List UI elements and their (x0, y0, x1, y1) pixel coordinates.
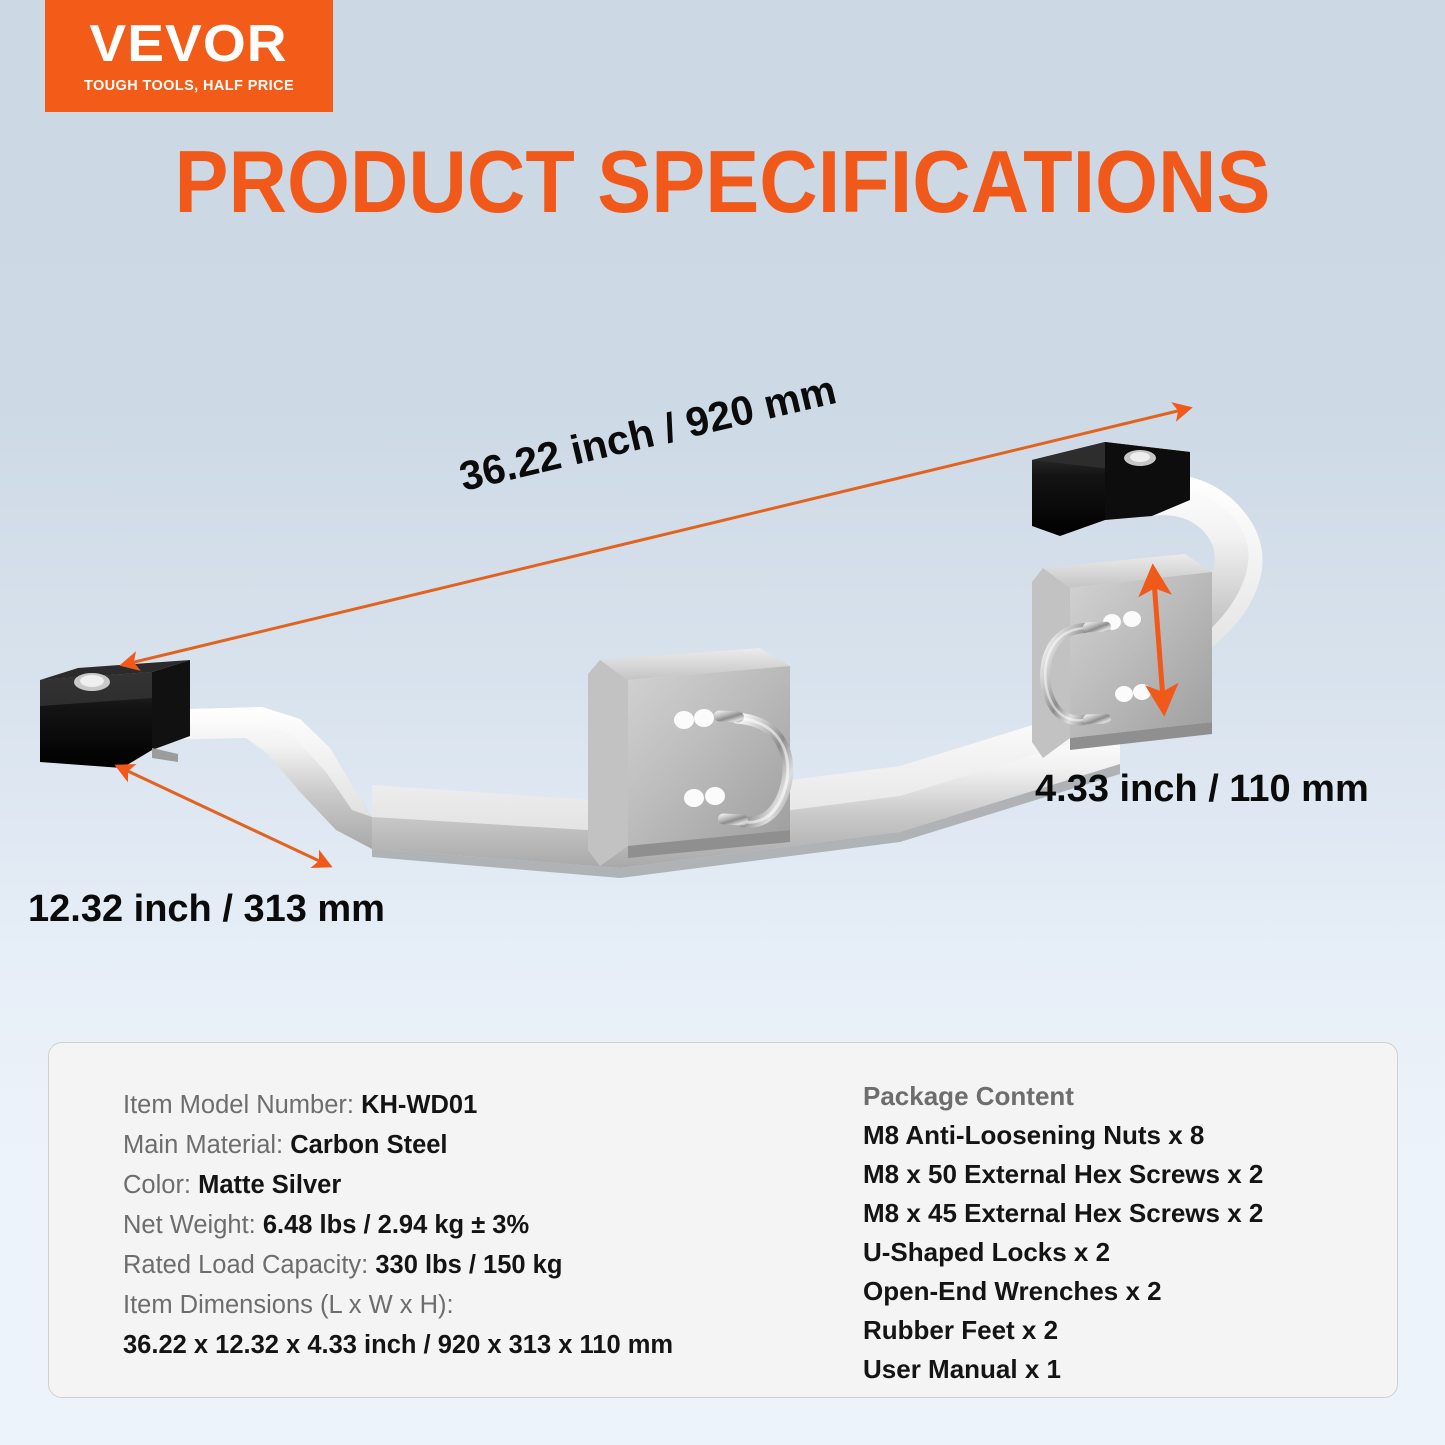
mounting-bracket-right (1032, 554, 1212, 758)
spec-row-load: Rated Load Capacity: 330 lbs / 150 kg (123, 1245, 809, 1285)
package-item: U-Shaped Locks x 2 (863, 1233, 1397, 1272)
spec-label-color: Color: (123, 1171, 198, 1199)
spec-value-load: 330 lbs / 150 kg (375, 1251, 562, 1279)
package-item: User Manual x 1 (863, 1350, 1397, 1389)
dimension-label-width: 12.32 inch / 313 mm (28, 888, 385, 931)
specifications-card: Item Model Number: KH-WD01 Main Material… (48, 1042, 1398, 1398)
mounting-bracket-center (582, 648, 790, 866)
spec-label-load: Rated Load Capacity: (123, 1251, 375, 1279)
spec-label-dimensions: Item Dimensions (L x W x H): (123, 1285, 809, 1325)
package-item: Open-End Wrenches x 2 (863, 1272, 1397, 1311)
package-item: M8 x 45 External Hex Screws x 2 (863, 1194, 1397, 1233)
brand-logo: VEVOR TOUGH TOOLS, HALF PRICE (45, 0, 333, 112)
dimension-label-height: 4.33 inch / 110 mm (1035, 768, 1369, 811)
page-title: PRODUCT SPECIFICATIONS (58, 138, 1387, 226)
brand-tagline: TOUGH TOOLS, HALF PRICE (84, 79, 294, 94)
spec-row-color: Color: Matte Silver (123, 1165, 809, 1205)
package-content-list: Package Content M8 Anti-Loosening Nuts x… (809, 1043, 1397, 1397)
spec-label-material: Main Material: (123, 1131, 290, 1159)
rubber-foot-right (1032, 442, 1190, 536)
spec-table: Item Model Number: KH-WD01 Main Material… (49, 1043, 809, 1397)
package-content-title: Package Content (863, 1077, 1397, 1116)
spec-row-weight: Net Weight: 6.48 lbs / 2.94 kg ± 3% (123, 1205, 809, 1245)
spec-row-model: Item Model Number: KH-WD01 (123, 1085, 809, 1125)
spec-label-weight: Net Weight: (123, 1211, 263, 1239)
spec-value-color: Matte Silver (198, 1171, 341, 1199)
spec-value-dimensions: 36.22 x 12.32 x 4.33 inch / 920 x 313 x … (123, 1325, 809, 1365)
package-item: M8 x 50 External Hex Screws x 2 (863, 1155, 1397, 1194)
spec-value-model: KH-WD01 (361, 1091, 477, 1119)
brand-name: VEVOR (90, 18, 288, 70)
rubber-foot-left (40, 660, 190, 768)
spec-label-model: Item Model Number: (123, 1091, 361, 1119)
spec-row-material: Main Material: Carbon Steel (123, 1125, 809, 1165)
spec-value-material: Carbon Steel (290, 1131, 447, 1159)
spec-value-weight: 6.48 lbs / 2.94 kg ± 3% (263, 1211, 529, 1239)
package-item: M8 Anti-Loosening Nuts x 8 (863, 1116, 1397, 1155)
package-item: Rubber Feet x 2 (863, 1311, 1397, 1350)
